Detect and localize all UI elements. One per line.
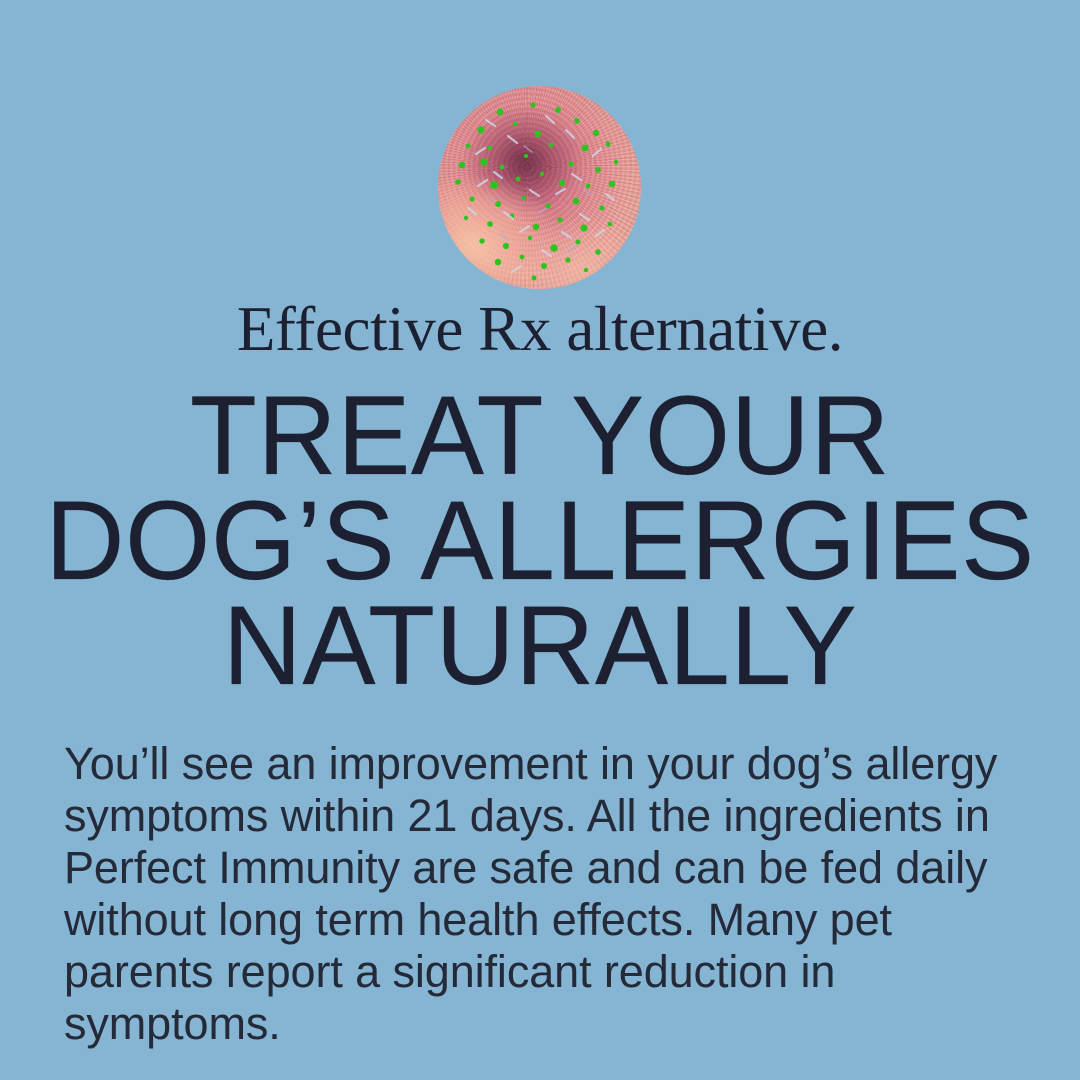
headline-line-2: DOG’S ALLERGIES <box>11 488 1069 593</box>
page-title: TREAT YOUR DOG’S ALLERGIES NATURALLY <box>0 383 1080 698</box>
hero-image-container <box>438 86 641 289</box>
gut-microbiome-circle-image <box>438 86 641 289</box>
promo-poster: Effective Rx alternative. TREAT YOUR DOG… <box>0 0 1080 1080</box>
hero-vignette <box>438 86 641 289</box>
eyebrow-tagline: Effective Rx alternative. <box>0 298 1080 361</box>
headline-line-1: TREAT YOUR <box>11 383 1069 488</box>
body-paragraph: You’ll see an improvement in your dog’s … <box>64 738 1016 1050</box>
headline-line-3: NATURALLY <box>11 593 1069 698</box>
